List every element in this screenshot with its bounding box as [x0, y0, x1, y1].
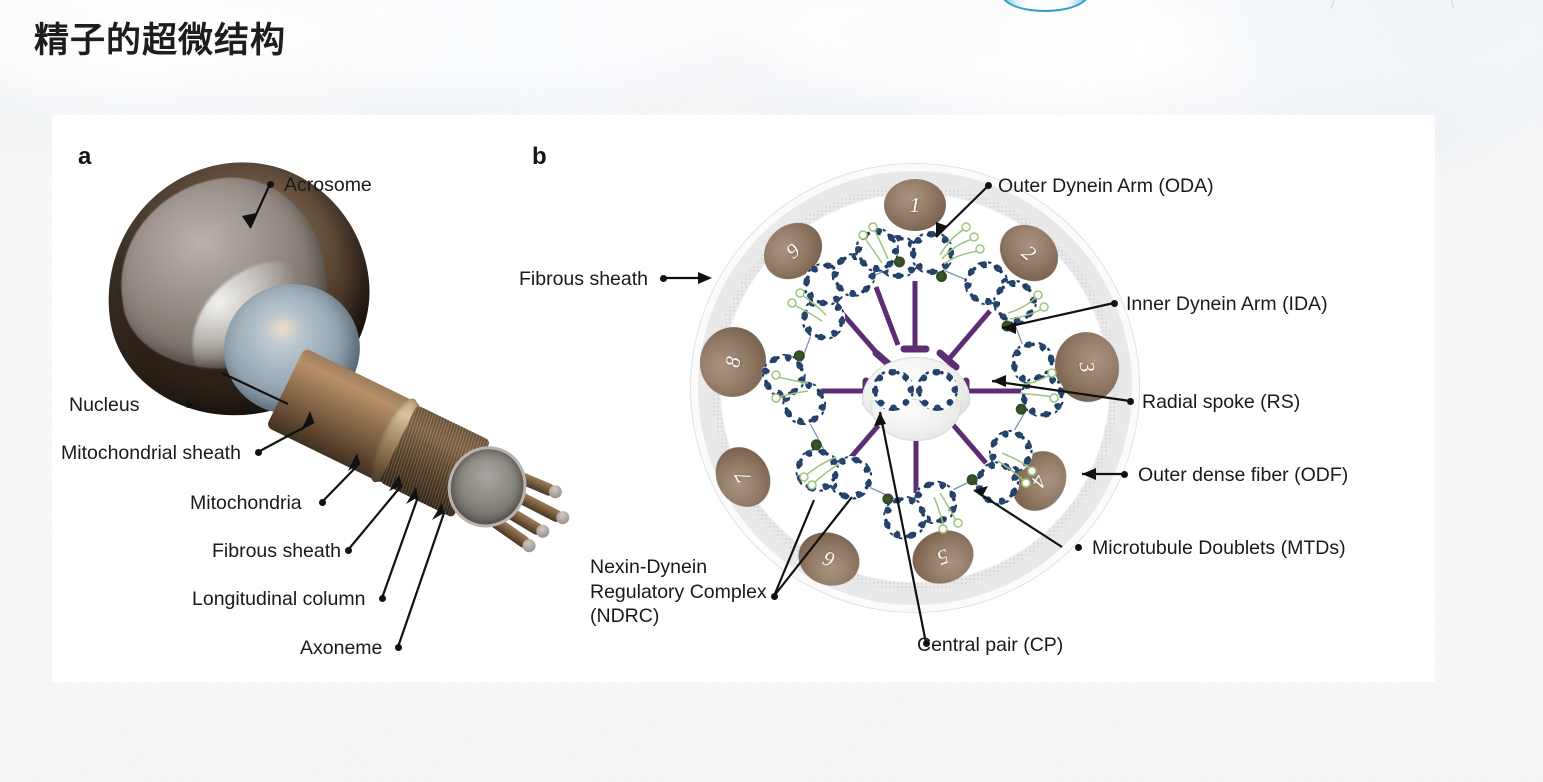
odf-number: 1: [910, 193, 921, 218]
label-mtds: Microtubule Doublets (MTDs): [1092, 536, 1346, 561]
odf-number: 8: [720, 355, 746, 370]
label-dot-cp: [923, 640, 930, 647]
label-ndrc-line3: (NDRC): [590, 605, 659, 627]
label-ndrc-line1: Nexin-Dynein: [590, 556, 707, 578]
axoneme-cross-section-illustration: 1 2 3 4 5 6 7 8 9: [690, 163, 1140, 613]
odf-number: 5: [934, 543, 952, 570]
label-mitochondrial-sheath: Mitochondrial sheath: [61, 441, 241, 466]
odf-number: 3: [1074, 360, 1100, 375]
odf-1: 1: [884, 179, 946, 231]
odf-number: 2: [1017, 240, 1041, 266]
label-oda: Outer Dynein Arm (ODA): [998, 174, 1214, 199]
label-fibrous-sheath-b: Fibrous sheath: [519, 267, 648, 292]
central-tubule-c1: [872, 369, 914, 411]
page-title: 精子的超微结构: [34, 24, 286, 59]
mtd-3: [978, 337, 1068, 427]
panel-a-letter: a: [78, 143, 91, 171]
mtd-junction: [936, 271, 947, 282]
label-dot-fibrous-sheath-a: [345, 547, 352, 554]
label-dot-ndrc: [771, 593, 778, 600]
label-dot-longitudinal-column: [379, 595, 386, 602]
label-dot-ida: [1111, 300, 1118, 307]
label-cp: Central pair (CP): [917, 633, 1063, 658]
panel-a: a: [52, 115, 522, 682]
label-longitudinal-column: Longitudinal column: [192, 587, 365, 612]
panel-b-letter: b: [532, 143, 547, 171]
figure-card: a: [52, 115, 1435, 682]
central-tubule-c2: [916, 369, 958, 411]
label-dot-rs: [1127, 398, 1134, 405]
label-fibrous-sheath-a: Fibrous sheath: [212, 539, 341, 564]
label-ndrc: Nexin-Dynein Regulatory Complex (NDRC): [590, 555, 800, 629]
label-dot-fibrous-sheath-b: [660, 275, 667, 282]
label-dot-mtds: [1075, 544, 1082, 551]
nucleus-highlight: [263, 313, 302, 344]
odf-number: 9: [781, 238, 805, 264]
label-dot-nucleus: [185, 401, 192, 408]
label-nucleus: Nucleus: [69, 393, 139, 418]
odf-number: 7: [730, 466, 757, 488]
label-mitochondria: Mitochondria: [190, 491, 302, 516]
label-dot-mitochondria: [319, 499, 326, 506]
label-dot-oda: [985, 182, 992, 189]
label-odf: Outer dense fiber (ODF): [1138, 463, 1348, 488]
odf-number: 6: [820, 545, 838, 572]
label-acrosome: Acrosome: [284, 173, 372, 198]
odf-number: 4: [1026, 470, 1053, 492]
label-ida: Inner Dynein Arm (IDA): [1126, 292, 1328, 317]
label-dot-odf: [1121, 471, 1128, 478]
label-dot-axoneme: [395, 644, 402, 651]
label-dot-mitochondrial-sheath: [255, 449, 262, 456]
label-axoneme: Axoneme: [300, 636, 382, 661]
panel-b: b 1 2 3 4 5 6 7 8 9: [522, 115, 1435, 682]
label-rs: Radial spoke (RS): [1142, 390, 1300, 415]
label-dot-acrosome: [267, 181, 274, 188]
label-ndrc-line2: Regulatory Complex: [590, 581, 767, 603]
